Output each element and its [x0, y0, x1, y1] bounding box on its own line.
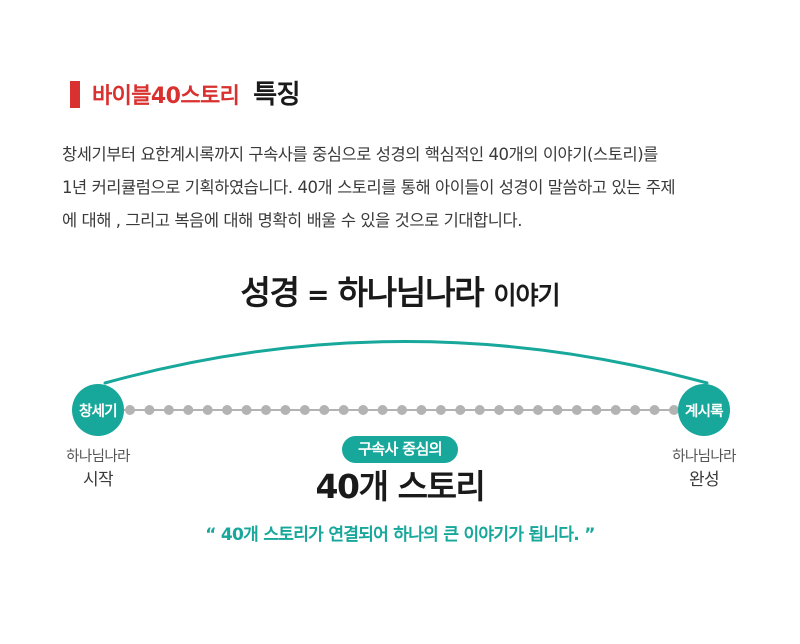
headline-subject-bible: 성경 — [240, 273, 298, 312]
page-heading: 바이블40스토리 특징 — [70, 82, 300, 109]
timeline-dot — [611, 405, 621, 415]
timeline-dot — [203, 405, 213, 415]
heading-accent-bar — [70, 81, 80, 108]
description-paragraph: 창세기부터 요한계시록까지 구속사를 중심으로 성경의 핵심적인 40개의 이야… — [62, 138, 752, 237]
timeline-dot — [261, 405, 271, 415]
timeline-dot — [280, 405, 290, 415]
story-count-label: 40개 스토리 — [0, 468, 800, 506]
page-title: 특징 — [253, 82, 300, 108]
status-badge: 구속사 중심의 — [342, 436, 458, 463]
timeline-node-genesis[interactable]: 창세기 — [72, 384, 124, 436]
timeline-dot — [378, 405, 388, 415]
paragraph-line-3: 에 대해 , 그리고 복음에 대해 명확히 배울 수 있을 것으로 기대합니다. — [62, 204, 752, 237]
timeline-dot — [300, 405, 310, 415]
timeline-dot — [630, 405, 640, 415]
timeline-dot — [144, 405, 154, 415]
paragraph-line-2: 1년 커리큘럼으로 기획하였습니다. 40개 스토리를 통해 아이들이 성경이 … — [62, 171, 752, 204]
timeline-dot — [494, 405, 504, 415]
timeline-node-revelation[interactable]: 계시록 — [678, 384, 730, 436]
timeline-dot — [358, 405, 368, 415]
timeline-dot — [164, 405, 174, 415]
timeline-dot — [572, 405, 582, 415]
timeline-dot — [339, 405, 349, 415]
timeline-dot — [552, 405, 562, 415]
main-headline: 성경 = 하나님나라 이야기 — [0, 266, 800, 314]
timeline-dot — [475, 405, 485, 415]
timeline-dot — [319, 405, 329, 415]
timeline-dot — [242, 405, 252, 415]
timeline-dot — [514, 405, 524, 415]
timeline-node-revelation-label: 계시록 — [685, 400, 723, 421]
headline-subject-kingdom: 하나님나라 — [338, 273, 484, 312]
timeline-dot — [436, 405, 446, 415]
center-summary: 구속사 중심의 40개 스토리 — [0, 436, 800, 506]
headline-equals-sign: = — [307, 280, 330, 311]
timeline-node-genesis-label: 창세기 — [79, 400, 117, 421]
timeline-dot — [222, 405, 232, 415]
timeline-dot — [533, 405, 543, 415]
timeline-dot — [416, 405, 426, 415]
connection-arc — [105, 342, 707, 384]
timeline-dot — [125, 405, 135, 415]
headline-subject-story: 이야기 — [494, 281, 560, 310]
timeline-dot — [183, 405, 193, 415]
paragraph-line-1: 창세기부터 요한계시록까지 구속사를 중심으로 성경의 핵심적인 40개의 이야… — [62, 138, 752, 171]
timeline-dot — [397, 405, 407, 415]
heading-brand-text: 바이블40스토리 — [92, 86, 239, 108]
timeline-dot — [591, 405, 601, 415]
timeline-dot — [455, 405, 465, 415]
timeline-dot-group — [125, 405, 679, 415]
closing-quote: “ 40개 스토리가 연결되어 하나의 큰 이야기가 됩니다. ” — [0, 520, 800, 545]
timeline-dot — [650, 405, 660, 415]
